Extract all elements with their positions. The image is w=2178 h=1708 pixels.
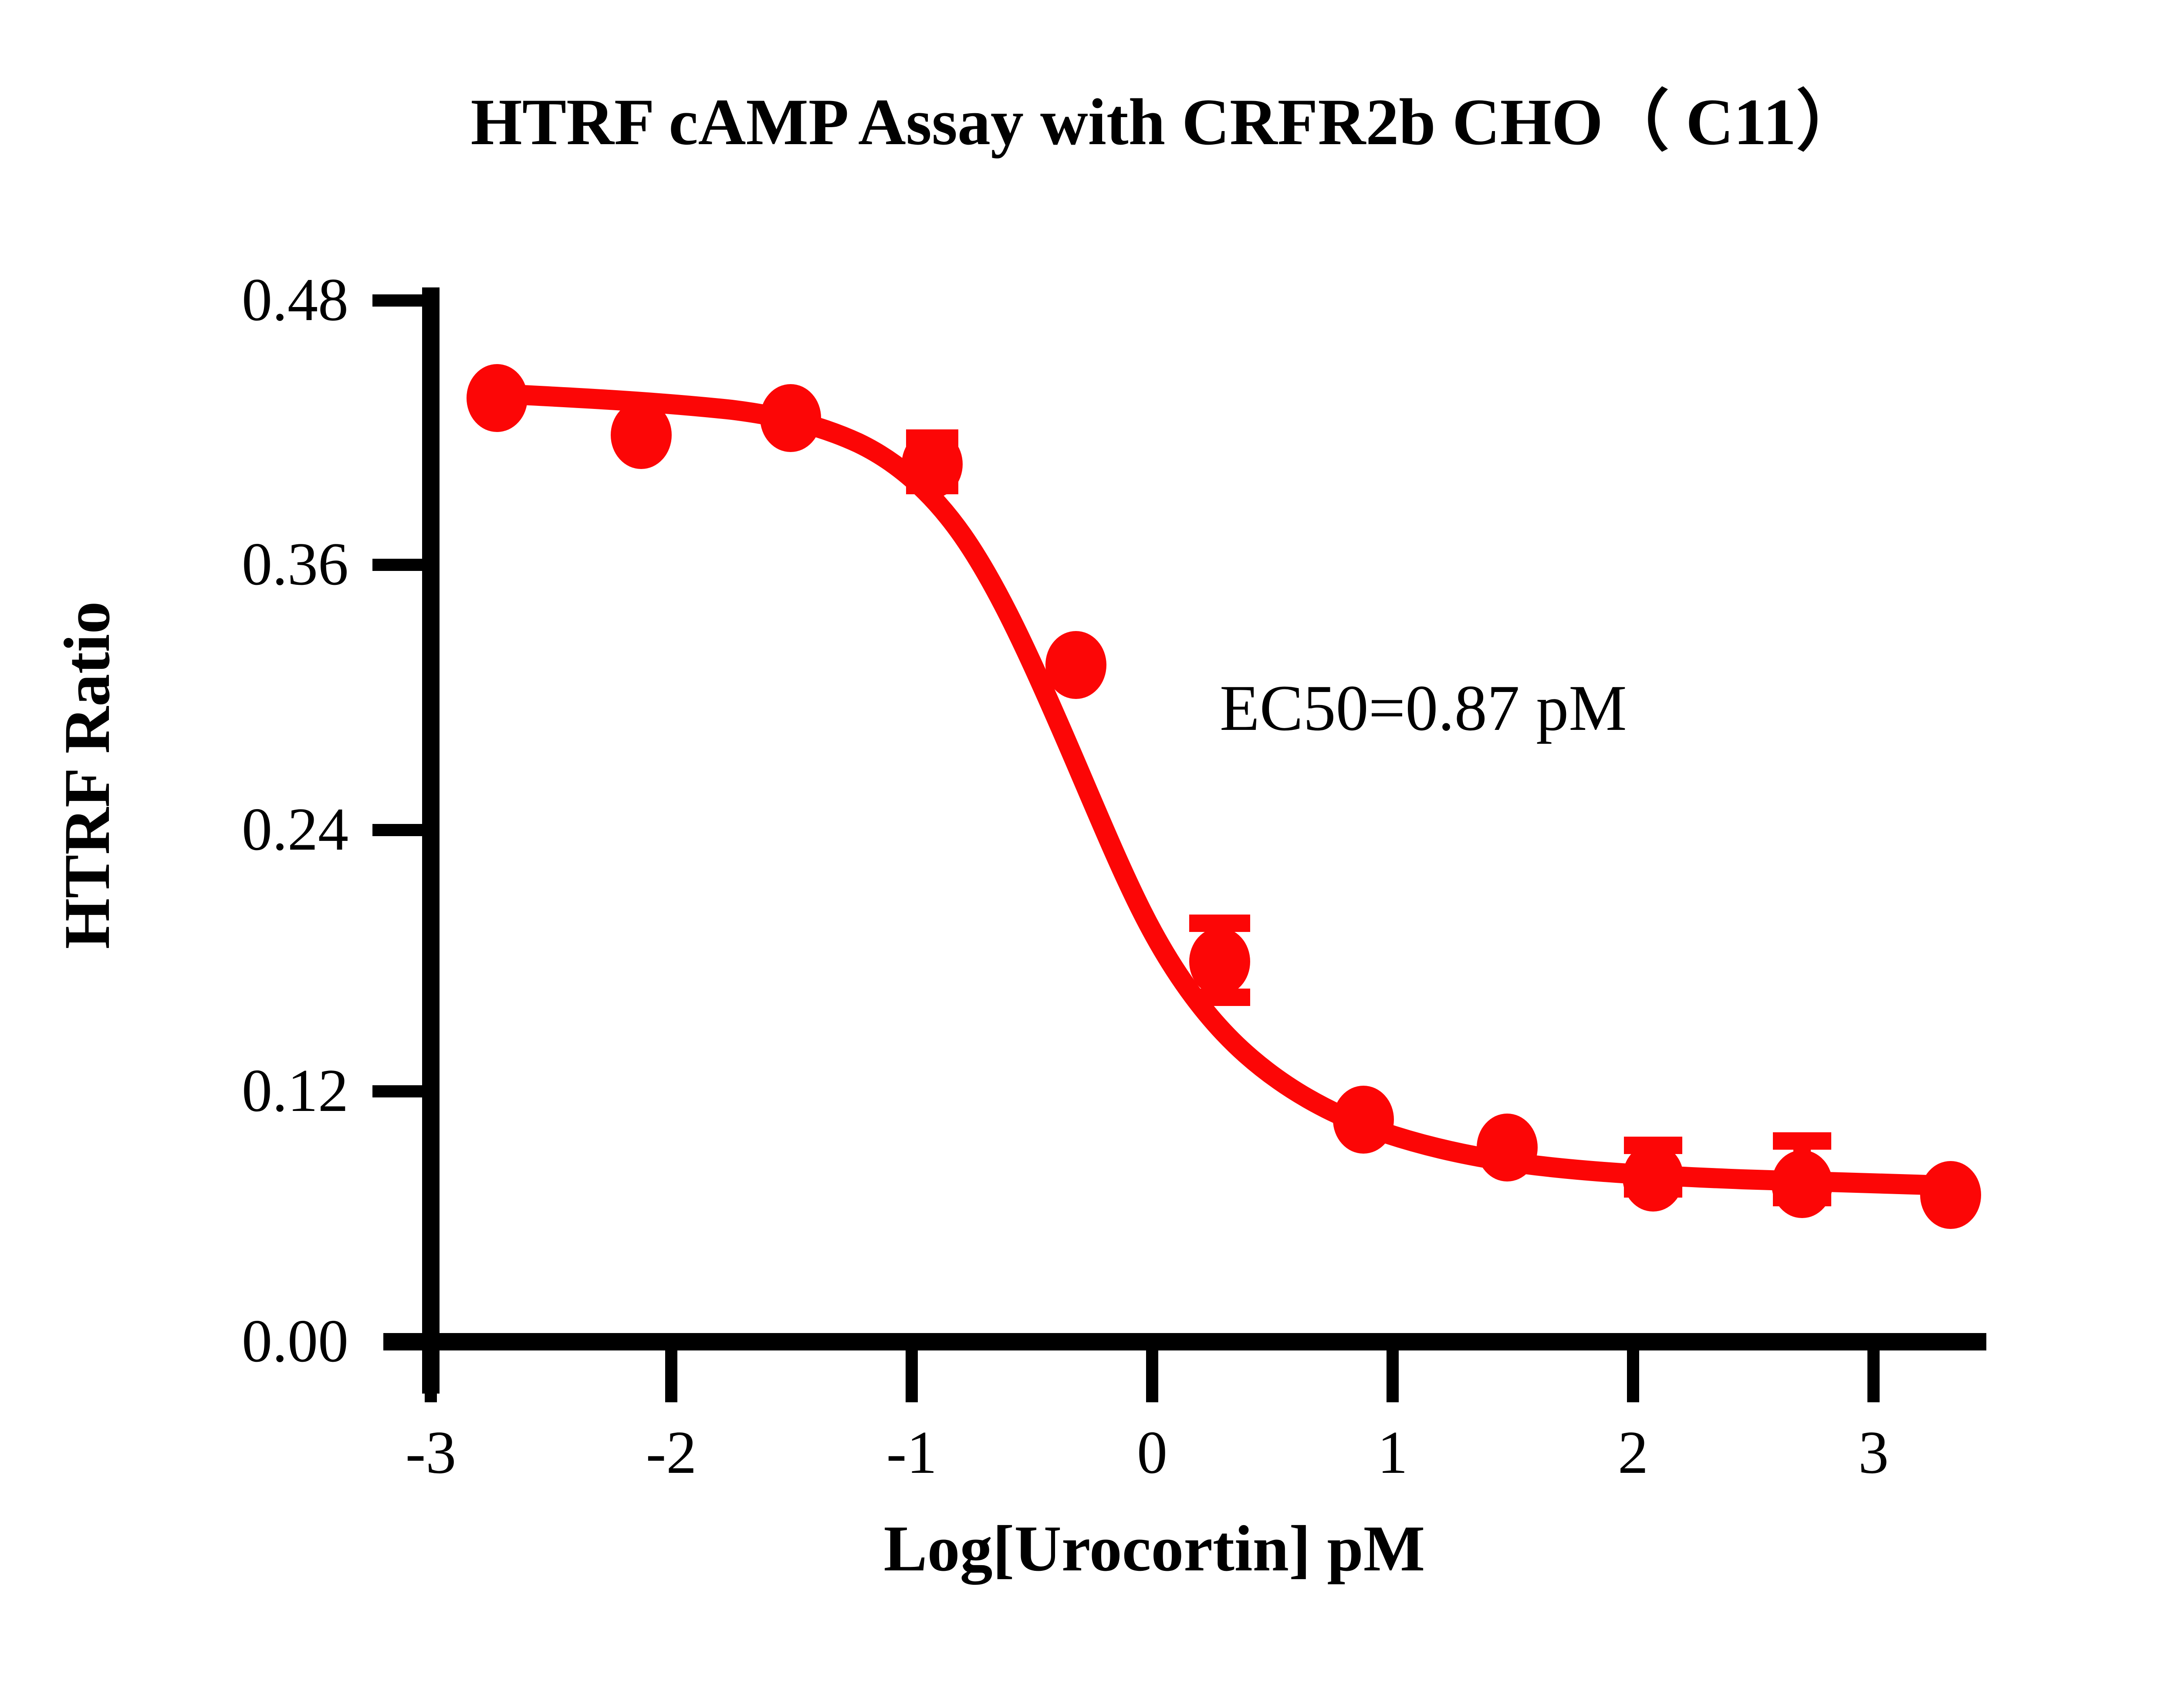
y-tick-marks bbox=[372, 300, 431, 1091]
xtick-label-1: 1 bbox=[1327, 1418, 1458, 1488]
ytick-label-048: 0.48 bbox=[70, 265, 348, 335]
data-point bbox=[1772, 1150, 1833, 1218]
data-point bbox=[1920, 1161, 1981, 1229]
data-point-markers bbox=[467, 364, 1981, 1229]
fit-curve bbox=[497, 394, 1943, 1185]
xtick-label-neg2: -2 bbox=[606, 1418, 737, 1488]
xtick-label-3: 3 bbox=[1808, 1418, 1939, 1488]
data-point bbox=[1045, 631, 1106, 699]
x-axis-title: Log[Urocortin] pM bbox=[431, 1511, 1877, 1586]
xtick-label-0: 0 bbox=[1087, 1418, 1218, 1488]
y-axis-title: HTRF Ratio bbox=[50, 435, 124, 1115]
data-point bbox=[1623, 1144, 1684, 1212]
data-point bbox=[611, 401, 672, 469]
data-point bbox=[760, 384, 821, 452]
x-tick-marks bbox=[431, 1342, 1874, 1402]
xtick-label-neg1: -1 bbox=[846, 1418, 977, 1488]
data-point bbox=[1189, 928, 1250, 996]
chart-figure: HTRF cAMP Assay with CRFR2b CHO（ C11） bbox=[0, 0, 2178, 1708]
data-point bbox=[467, 364, 528, 432]
xtick-label-2: 2 bbox=[1568, 1418, 1698, 1488]
ec50-annotation: EC50=0.87 pM bbox=[1220, 671, 1627, 746]
data-point bbox=[1477, 1114, 1538, 1181]
xtick-label-neg3: -3 bbox=[365, 1418, 496, 1488]
data-point bbox=[902, 430, 963, 498]
error-bars bbox=[906, 438, 1831, 1198]
ytick-label-000: 0.00 bbox=[70, 1306, 348, 1376]
data-point bbox=[1333, 1086, 1394, 1154]
